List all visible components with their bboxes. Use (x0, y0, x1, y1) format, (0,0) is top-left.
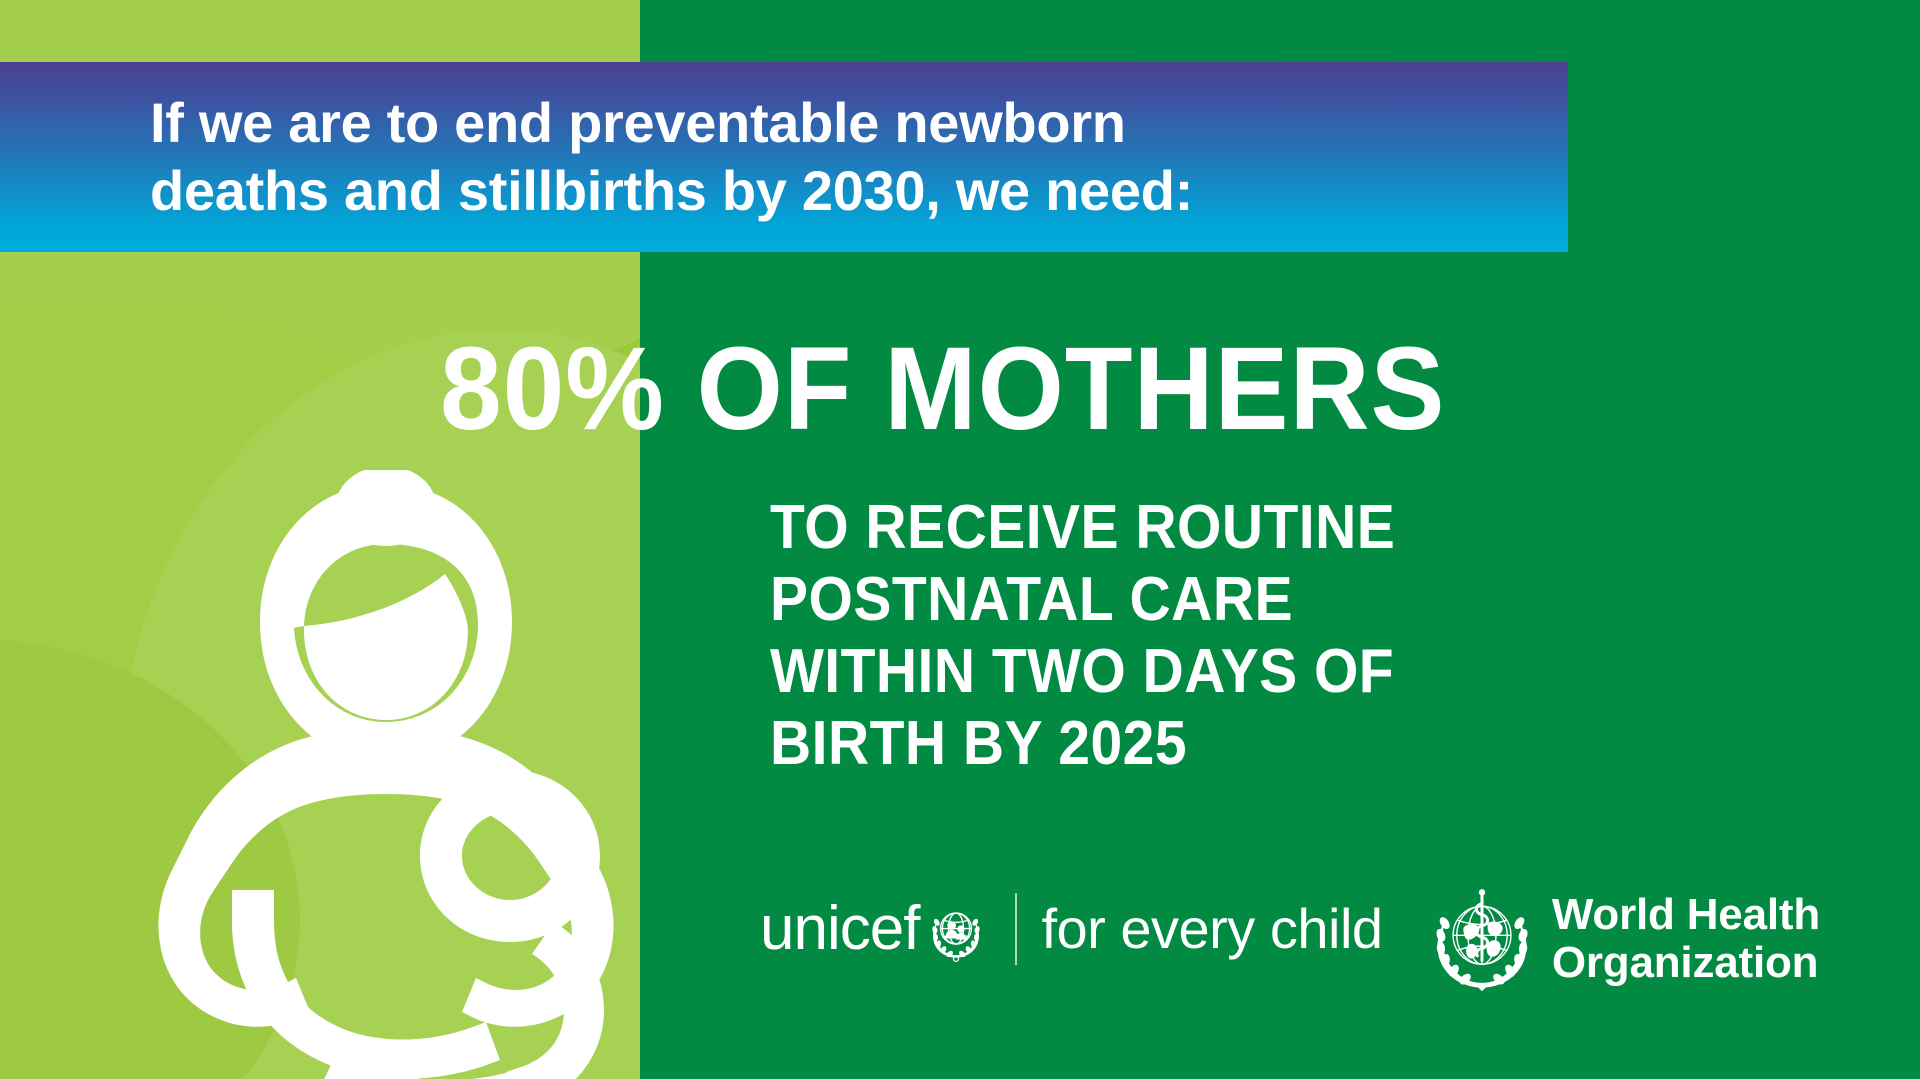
mother-and-child-icon (140, 470, 650, 1079)
statistic-headline: 80% OF MOTHERS (440, 330, 1718, 448)
who-globe-rod-of-asclepius-emblem (1426, 883, 1538, 995)
unicef-tagline: for every child (1041, 901, 1382, 957)
unicef-globe-emblem (925, 900, 987, 962)
banner-line-2: deaths and stillbirths by 2030, we need: (150, 157, 1528, 225)
poster-root: If we are to end preventable newborn dea… (0, 0, 1920, 1079)
supporting-copy: TO RECEIVE ROUTINE POSTNATAL CARE WITHIN… (770, 492, 1598, 780)
supporting-copy-line-1: TO RECEIVE ROUTINE (770, 492, 1598, 564)
who-logo: World Health Organization (1426, 880, 1820, 998)
logo-bar: unicef (760, 880, 1820, 1000)
supporting-copy-line-3: WITHIN TWO DAYS OF (770, 636, 1598, 708)
supporting-copy-line-4: BIRTH BY 2025 (770, 708, 1598, 780)
who-name-line-2: Organization (1552, 939, 1820, 987)
unicef-wordmark: unicef (760, 898, 919, 960)
who-name-line-1: World Health (1552, 891, 1820, 939)
headline-banner: If we are to end preventable newborn dea… (0, 62, 1568, 252)
unicef-logo: unicef (760, 890, 1383, 968)
supporting-copy-line-2: POSTNATAL CARE (770, 564, 1598, 636)
banner-line-1: If we are to end preventable newborn (150, 89, 1528, 157)
logo-divider (1015, 893, 1017, 965)
who-wordmark: World Health Organization (1552, 891, 1820, 986)
